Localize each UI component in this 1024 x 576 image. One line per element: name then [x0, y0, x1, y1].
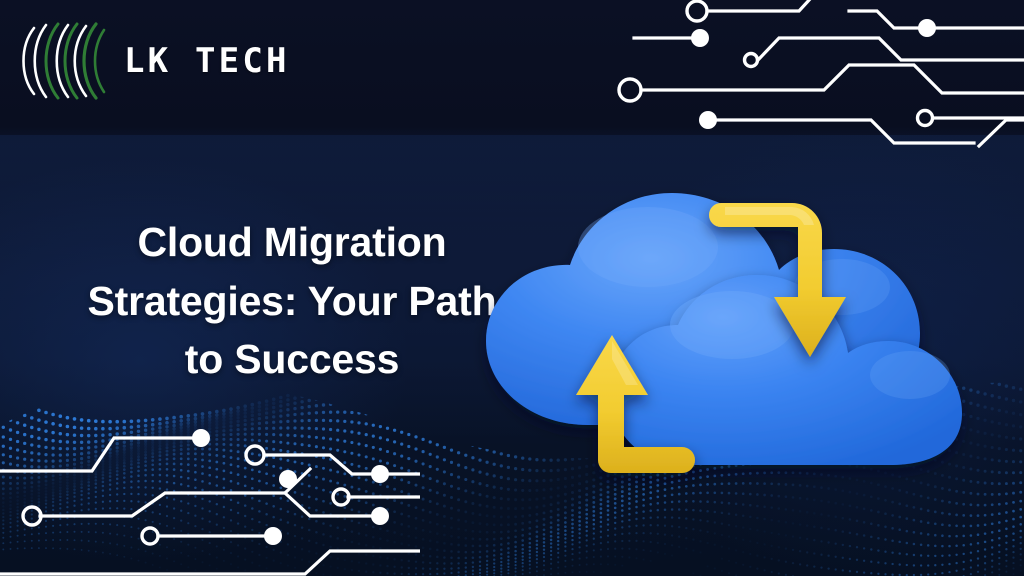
headline-line-2: Strategies: Your Path — [42, 272, 542, 330]
arc-wave-logo-icon — [14, 18, 118, 104]
headline-line-3: to Success — [42, 330, 542, 388]
headline-line-1: Cloud Migration — [42, 213, 542, 271]
brand-logo[interactable]: LK TECH — [14, 18, 290, 104]
cloud-migration-illustration — [470, 175, 1010, 505]
page-title: Cloud Migration Strategies: Your Path to… — [42, 213, 542, 388]
brand-logo-text: LK TECH — [124, 44, 290, 78]
banner: LK TECH Cloud Migration Strategies: Your… — [0, 0, 1024, 576]
